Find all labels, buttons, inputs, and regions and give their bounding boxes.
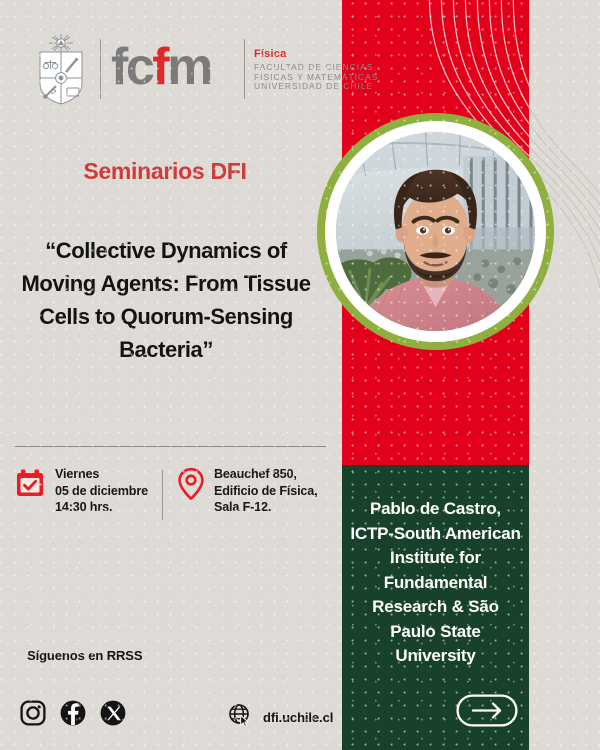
logo-divider-left (100, 39, 101, 99)
event-date-line-2: 05 de diciembre (55, 484, 148, 498)
event-location-text: Beauchef 850, Edificio de Física, Sala F… (214, 466, 318, 516)
globe-cursor-icon (228, 703, 252, 732)
event-location: Beauchef 850, Edificio de Física, Sala F… (177, 466, 318, 516)
info-separator (162, 470, 163, 520)
website-link[interactable]: dfi.uchile.cl (228, 703, 333, 732)
svg-text:fcfm: fcfm (111, 40, 211, 96)
event-date-text: Viernes 05 de diciembre 14:30 hrs. (55, 466, 148, 516)
university-of-chile-crest-icon (30, 32, 92, 106)
speaker-photo-ring (317, 113, 554, 350)
social-links (20, 700, 126, 731)
map-pin-icon (177, 467, 205, 506)
divider (14, 446, 326, 447)
x-twitter-icon[interactable] (100, 700, 126, 731)
calendar-check-icon (14, 467, 46, 504)
facebook-icon[interactable] (60, 700, 86, 731)
department-label: Física (254, 48, 378, 60)
event-date-line-3: 14:30 hrs. (55, 500, 112, 514)
talk-title: “Collective Dynamics of Moving Agents: F… (8, 234, 324, 366)
website-url: dfi.uchile.cl (263, 710, 333, 725)
follow-label: Síguenos en RRSS (27, 648, 142, 663)
event-location-line-1: Beauchef 850, (214, 467, 297, 481)
series-label: Seminarios DFI (0, 158, 330, 185)
fcfm-logo: fcfm Física FACULTAD DE CIENCIAS FÍSICAS… (30, 32, 378, 106)
instagram-icon[interactable] (20, 700, 46, 731)
event-location-line-2: Edificio de Física, (214, 484, 318, 498)
speaker-portrait (336, 132, 535, 331)
faculty-line-3: UNIVERSIDAD DE CHILE (254, 82, 378, 92)
event-info: Viernes 05 de diciembre 14:30 hrs. Beauc… (14, 466, 334, 526)
speaker-name-affiliation: Pablo de Castro, ICTP-South American Ins… (348, 497, 523, 669)
next-button[interactable] (456, 694, 518, 727)
event-location-line-3: Sala F-12. (214, 500, 271, 514)
event-date: Viernes 05 de diciembre 14:30 hrs. (14, 466, 148, 516)
seminar-poster: fcfm Física FACULTAD DE CIENCIAS FÍSICAS… (0, 0, 600, 750)
logo-divider-right (244, 39, 245, 99)
fcfm-wordmark: fcfm (111, 40, 237, 98)
event-date-line-1: Viernes (55, 467, 99, 481)
